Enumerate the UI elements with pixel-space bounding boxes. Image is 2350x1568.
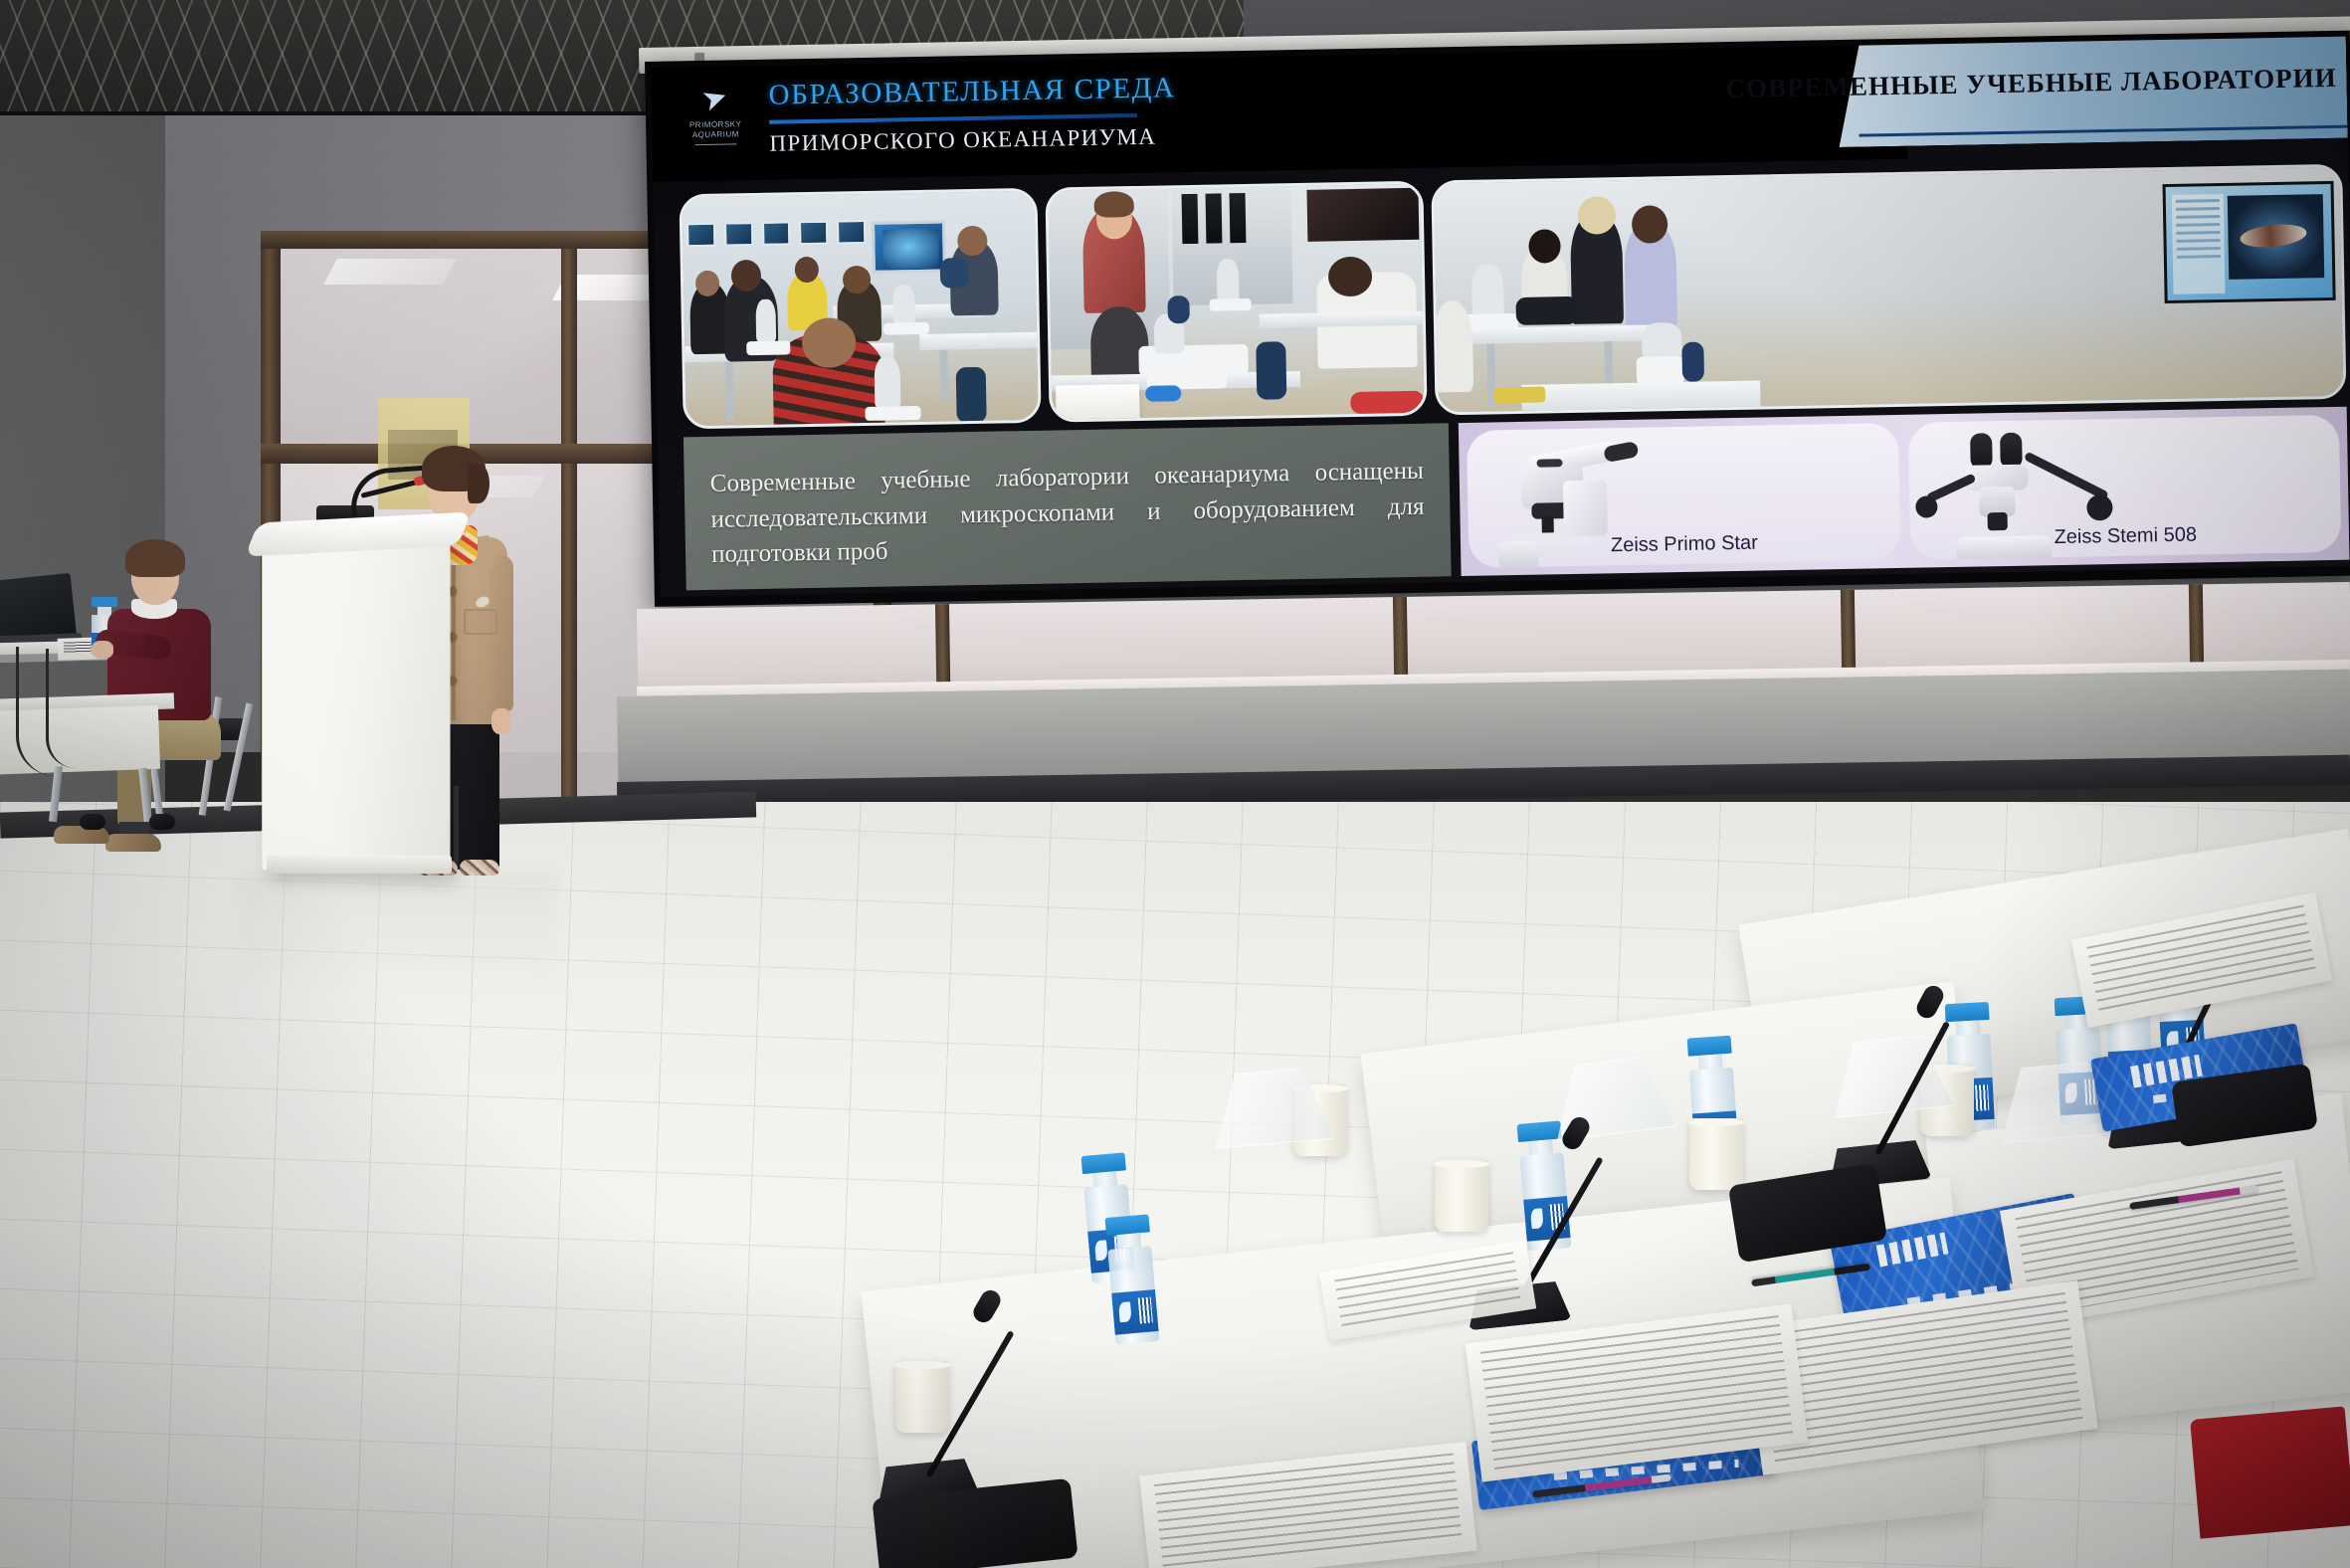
slide-body-text: Современные учебные лаборатории океанари… xyxy=(709,454,1425,573)
presentation-room-scene: ➤ PRIMORSKY AQUARIUM ОБРАЗОВАТЕЛЬНАЯ СРЕ… xyxy=(0,0,2350,1568)
specimen-image xyxy=(2228,194,2325,280)
aquarium-logo: ➤ PRIMORSKY AQUARIUM xyxy=(679,84,751,164)
logo-line-2: AQUARIUM xyxy=(680,129,751,140)
slide-text-panel: Современные учебные лаборатории океанари… xyxy=(684,423,1452,590)
microscope-primo-star: Zeiss Primo Star xyxy=(1467,423,1900,568)
slide-photo-strip xyxy=(679,164,2346,430)
paper-cup[interactable] xyxy=(895,1361,949,1433)
microscope-gallery: Zeiss Primo Star Zeiss xyxy=(1459,407,2350,576)
projection-screen: ➤ PRIMORSKY AQUARIUM ОБРАЗОВАТЕЛЬНАЯ СРЕ… xyxy=(645,31,2350,607)
lectern-base xyxy=(267,856,452,874)
lectern xyxy=(262,523,450,873)
slide-content: ➤ PRIMORSKY AQUARIUM ОБРАЗОВАТЕЛЬНАЯ СРЕ… xyxy=(651,37,2350,597)
floor-reflection xyxy=(239,872,557,991)
slide-header: ➤ PRIMORSKY AQUARIUM ОБРАЗОВАТЕЛЬНАЯ СРЕ… xyxy=(651,37,2348,182)
microscope-stemi-508-label: Zeiss Stemi 508 xyxy=(1909,521,2341,552)
photo-classroom xyxy=(679,188,1041,430)
microscope-stemi-508: Zeiss Stemi 508 xyxy=(1907,415,2341,560)
paper-cup[interactable] xyxy=(1435,1160,1488,1232)
lab-display-screen xyxy=(2163,181,2336,303)
slide-lower-section: Современные учебные лаборатории океанари… xyxy=(684,407,2350,591)
red-chair[interactable] xyxy=(2190,1406,2350,1538)
photo-sample-prep xyxy=(1045,181,1427,423)
paper-cup[interactable] xyxy=(1689,1118,1743,1190)
photo-group-bench xyxy=(1431,164,2346,416)
